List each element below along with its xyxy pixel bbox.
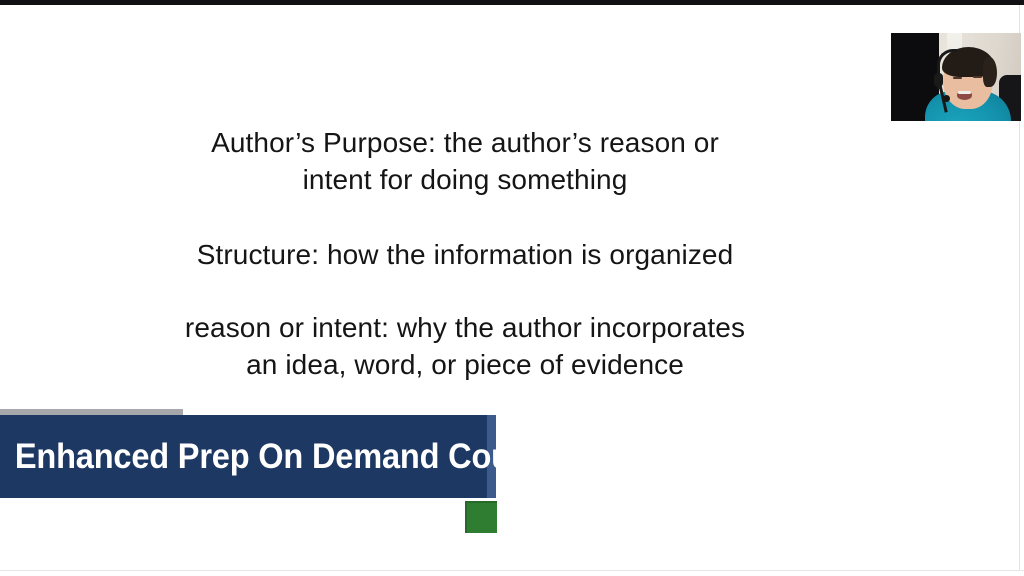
banner-green-square: [465, 501, 497, 533]
banner-bar: Enhanced Prep On Demand Course: [0, 415, 496, 498]
microphone-icon: [943, 95, 950, 102]
shared-screen-video: Author’s Purpose: the author’s reason or…: [0, 0, 1024, 576]
frame-bottom-edge: [0, 570, 1024, 571]
webcam-presenter-teeth: [958, 91, 971, 94]
slide-paragraph-reason-or-intent: reason or intent: why the author incorpo…: [0, 309, 930, 383]
course-banner: Enhanced Prep On Demand Course: [0, 409, 500, 537]
slide-line: an idea, word, or piece of evidence: [0, 346, 930, 383]
slide-line: reason or intent: why the author incorpo…: [0, 309, 930, 346]
webcam-presenter-eye-right: [973, 76, 982, 78]
slide-line: Structure: how the information is organi…: [0, 236, 930, 273]
webcam-presenter-hair-side: [983, 57, 997, 87]
slide-line: intent for doing something: [0, 161, 930, 198]
top-letterbox-bar: [0, 0, 1024, 5]
slide-paragraph-structure: Structure: how the information is organi…: [0, 236, 930, 273]
presenter-webcam-thumbnail[interactable]: [891, 33, 1021, 121]
slide-line: Author’s Purpose: the author’s reason or: [0, 124, 930, 161]
banner-title: Enhanced Prep On Demand Course: [0, 437, 559, 477]
slide-paragraph-authors-purpose: Author’s Purpose: the author’s reason or…: [0, 124, 930, 198]
